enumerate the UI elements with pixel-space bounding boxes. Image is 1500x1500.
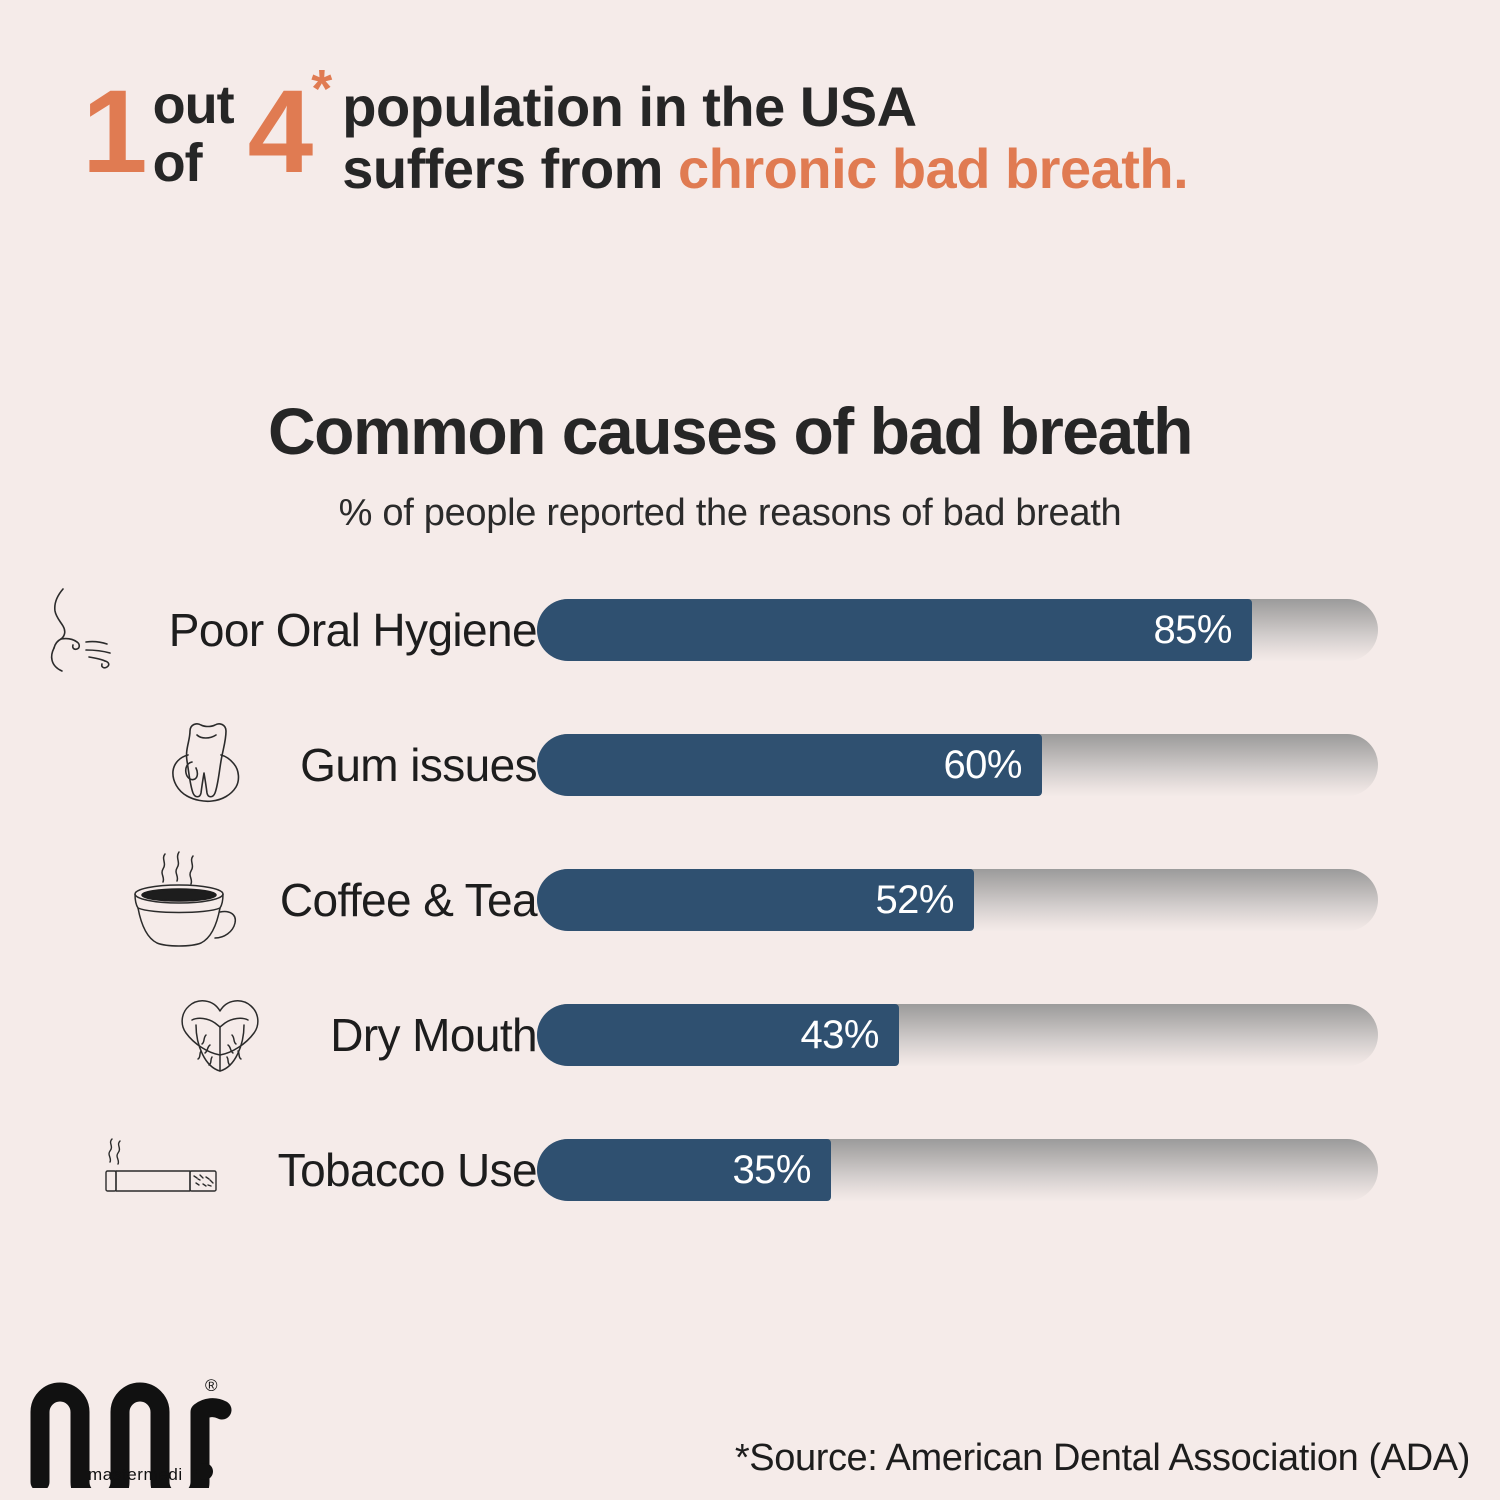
bar-value-label: 43%: [800, 1013, 879, 1057]
chart-row-label: Coffee & Tea: [17, 872, 537, 928]
headline-of-word: of: [153, 134, 234, 192]
bar-value-label: 85%: [1153, 608, 1232, 652]
bar-value-label: 35%: [732, 1148, 811, 1192]
headline-asterisk: *: [311, 62, 332, 116]
headline-number-four: 4: [248, 70, 311, 194]
bar-fill: 60%: [537, 734, 1042, 796]
bar-track: 43%: [537, 1004, 1378, 1066]
headline-line-2-accent: chronic bad breath.: [678, 137, 1188, 200]
bar-track: 52%: [537, 869, 1378, 931]
bar-fill: 43%: [537, 1004, 899, 1066]
chart-row: Coffee & Tea 52%: [0, 850, 1500, 985]
bar-track: 35%: [537, 1139, 1378, 1201]
section-subtitle: % of people reported the reasons of bad …: [0, 490, 1460, 536]
chart-row-label: Gum issues: [17, 737, 537, 793]
headline-number-four-wrap: 4 *: [248, 70, 311, 194]
headline-line-2-prefix: suffers from: [342, 137, 678, 200]
mastermedi-wordmark: mastermedi: [88, 1465, 183, 1485]
bar-fill: 35%: [537, 1139, 831, 1201]
source-citation: *Source: American Dental Association (AD…: [735, 1434, 1470, 1482]
bar-fill: 52%: [537, 869, 974, 931]
chart-row-label: Dry Mouth: [17, 1007, 537, 1063]
headline-line-2: suffers from chronic bad breath.: [342, 138, 1188, 200]
bar-value-label: 60%: [943, 743, 1022, 787]
bar-chart: Poor Oral Hygiene 85%: [0, 580, 1500, 1255]
mastermedi-dot-icon: [196, 1463, 213, 1480]
infographic-canvas: 1 out of 4 * population in the USA suffe…: [0, 0, 1500, 1500]
chart-row-label: Poor Oral Hygiene: [17, 602, 537, 658]
bar-track: 60%: [537, 734, 1378, 796]
chart-row: Dry Mouth 43%: [0, 985, 1500, 1120]
headline-out-word: out: [153, 76, 234, 134]
headline-line-1: population in the USA: [342, 76, 1188, 138]
registered-trademark-icon: ®: [205, 1376, 218, 1396]
headline-number-one: 1: [82, 70, 145, 194]
chart-row: Gum issues 60%: [0, 715, 1500, 850]
headline-out-of: out of: [153, 76, 234, 192]
chart-row: Tobacco Use 35%: [0, 1120, 1500, 1255]
headline: 1 out of 4 * population in the USA suffe…: [82, 62, 1422, 200]
bar-track: 85%: [537, 599, 1378, 661]
section-title: Common causes of bad breath: [0, 395, 1460, 467]
chart-row: Poor Oral Hygiene 85%: [0, 580, 1500, 715]
bar-fill: 85%: [537, 599, 1252, 661]
chart-row-label: Tobacco Use: [17, 1142, 537, 1198]
headline-lines: population in the USA suffers from chron…: [342, 76, 1188, 200]
bar-value-label: 52%: [875, 878, 954, 922]
